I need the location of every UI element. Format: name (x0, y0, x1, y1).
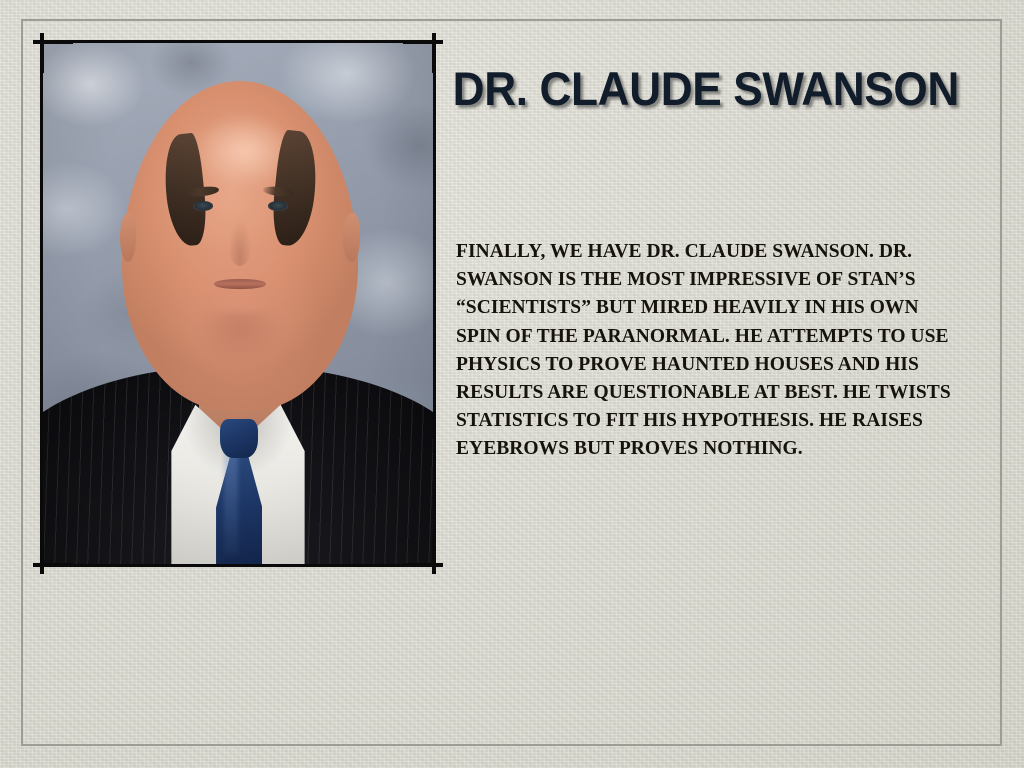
crop-mark-bottom-left (33, 534, 73, 574)
body-line: “SCIENTISTS” BUT MIRED HEAVILY IN HIS OW… (456, 294, 968, 322)
crop-mark-top-right (403, 33, 443, 73)
nose (228, 220, 252, 266)
crop-mark-horizontal-rule (33, 563, 73, 566)
body-line: STATISTICS TO FIT HIS HYPOTHESIS. HE RAI… (456, 407, 968, 435)
body-line: RESULTS ARE QUESTIONABLE AT BEST. HE TWI… (456, 379, 968, 407)
photo-edge-right (433, 33, 436, 574)
photo-edge-top (33, 40, 443, 43)
chin-shadow (198, 312, 283, 365)
body-line: SPIN OF THE PARANORMAL. HE ATTEMPTS TO U… (456, 323, 968, 351)
slide-title: DR. CLAUDE SWANSON (452, 64, 960, 114)
portrait-photo (42, 42, 434, 565)
ear-right (343, 213, 359, 262)
body-line: EYEBROWS BUT PROVES NOTHING. (456, 435, 968, 463)
crop-mark-horizontal-rule (403, 563, 443, 566)
crop-mark-vertical-rule (432, 534, 435, 574)
body-line: SWANSON IS THE MOST IMPRESSIVE OF STAN’S (456, 266, 968, 294)
eye-right (268, 201, 288, 210)
crop-mark-top-left (33, 33, 73, 73)
necktie-sheen (224, 450, 238, 555)
crop-mark-horizontal-rule (33, 41, 73, 44)
body-line: FINALLY, WE HAVE DR. CLAUDE SWANSON. DR. (456, 238, 968, 266)
photo-edge-bottom (33, 564, 443, 567)
presentation-slide: DR. CLAUDE SWANSON FINALLY, WE HAVE DR. … (0, 0, 1024, 768)
body-line: PHYSICS TO PROVE HAUNTED HOUSES AND HIS (456, 351, 968, 379)
crop-mark-vertical-rule (432, 33, 435, 73)
crop-mark-vertical-rule (41, 534, 44, 574)
crop-mark-vertical-rule (41, 33, 44, 73)
ear-left (120, 213, 136, 262)
crop-mark-horizontal-rule (403, 41, 443, 44)
eye-left (193, 201, 213, 210)
crop-mark-bottom-right (403, 534, 443, 574)
photo-edge-left (40, 33, 43, 574)
slide-body-text: FINALLY, WE HAVE DR. CLAUDE SWANSON. DR.… (456, 238, 968, 464)
portrait-photo-block (42, 42, 434, 565)
necktie-knot (220, 419, 257, 458)
mouth (214, 279, 266, 290)
